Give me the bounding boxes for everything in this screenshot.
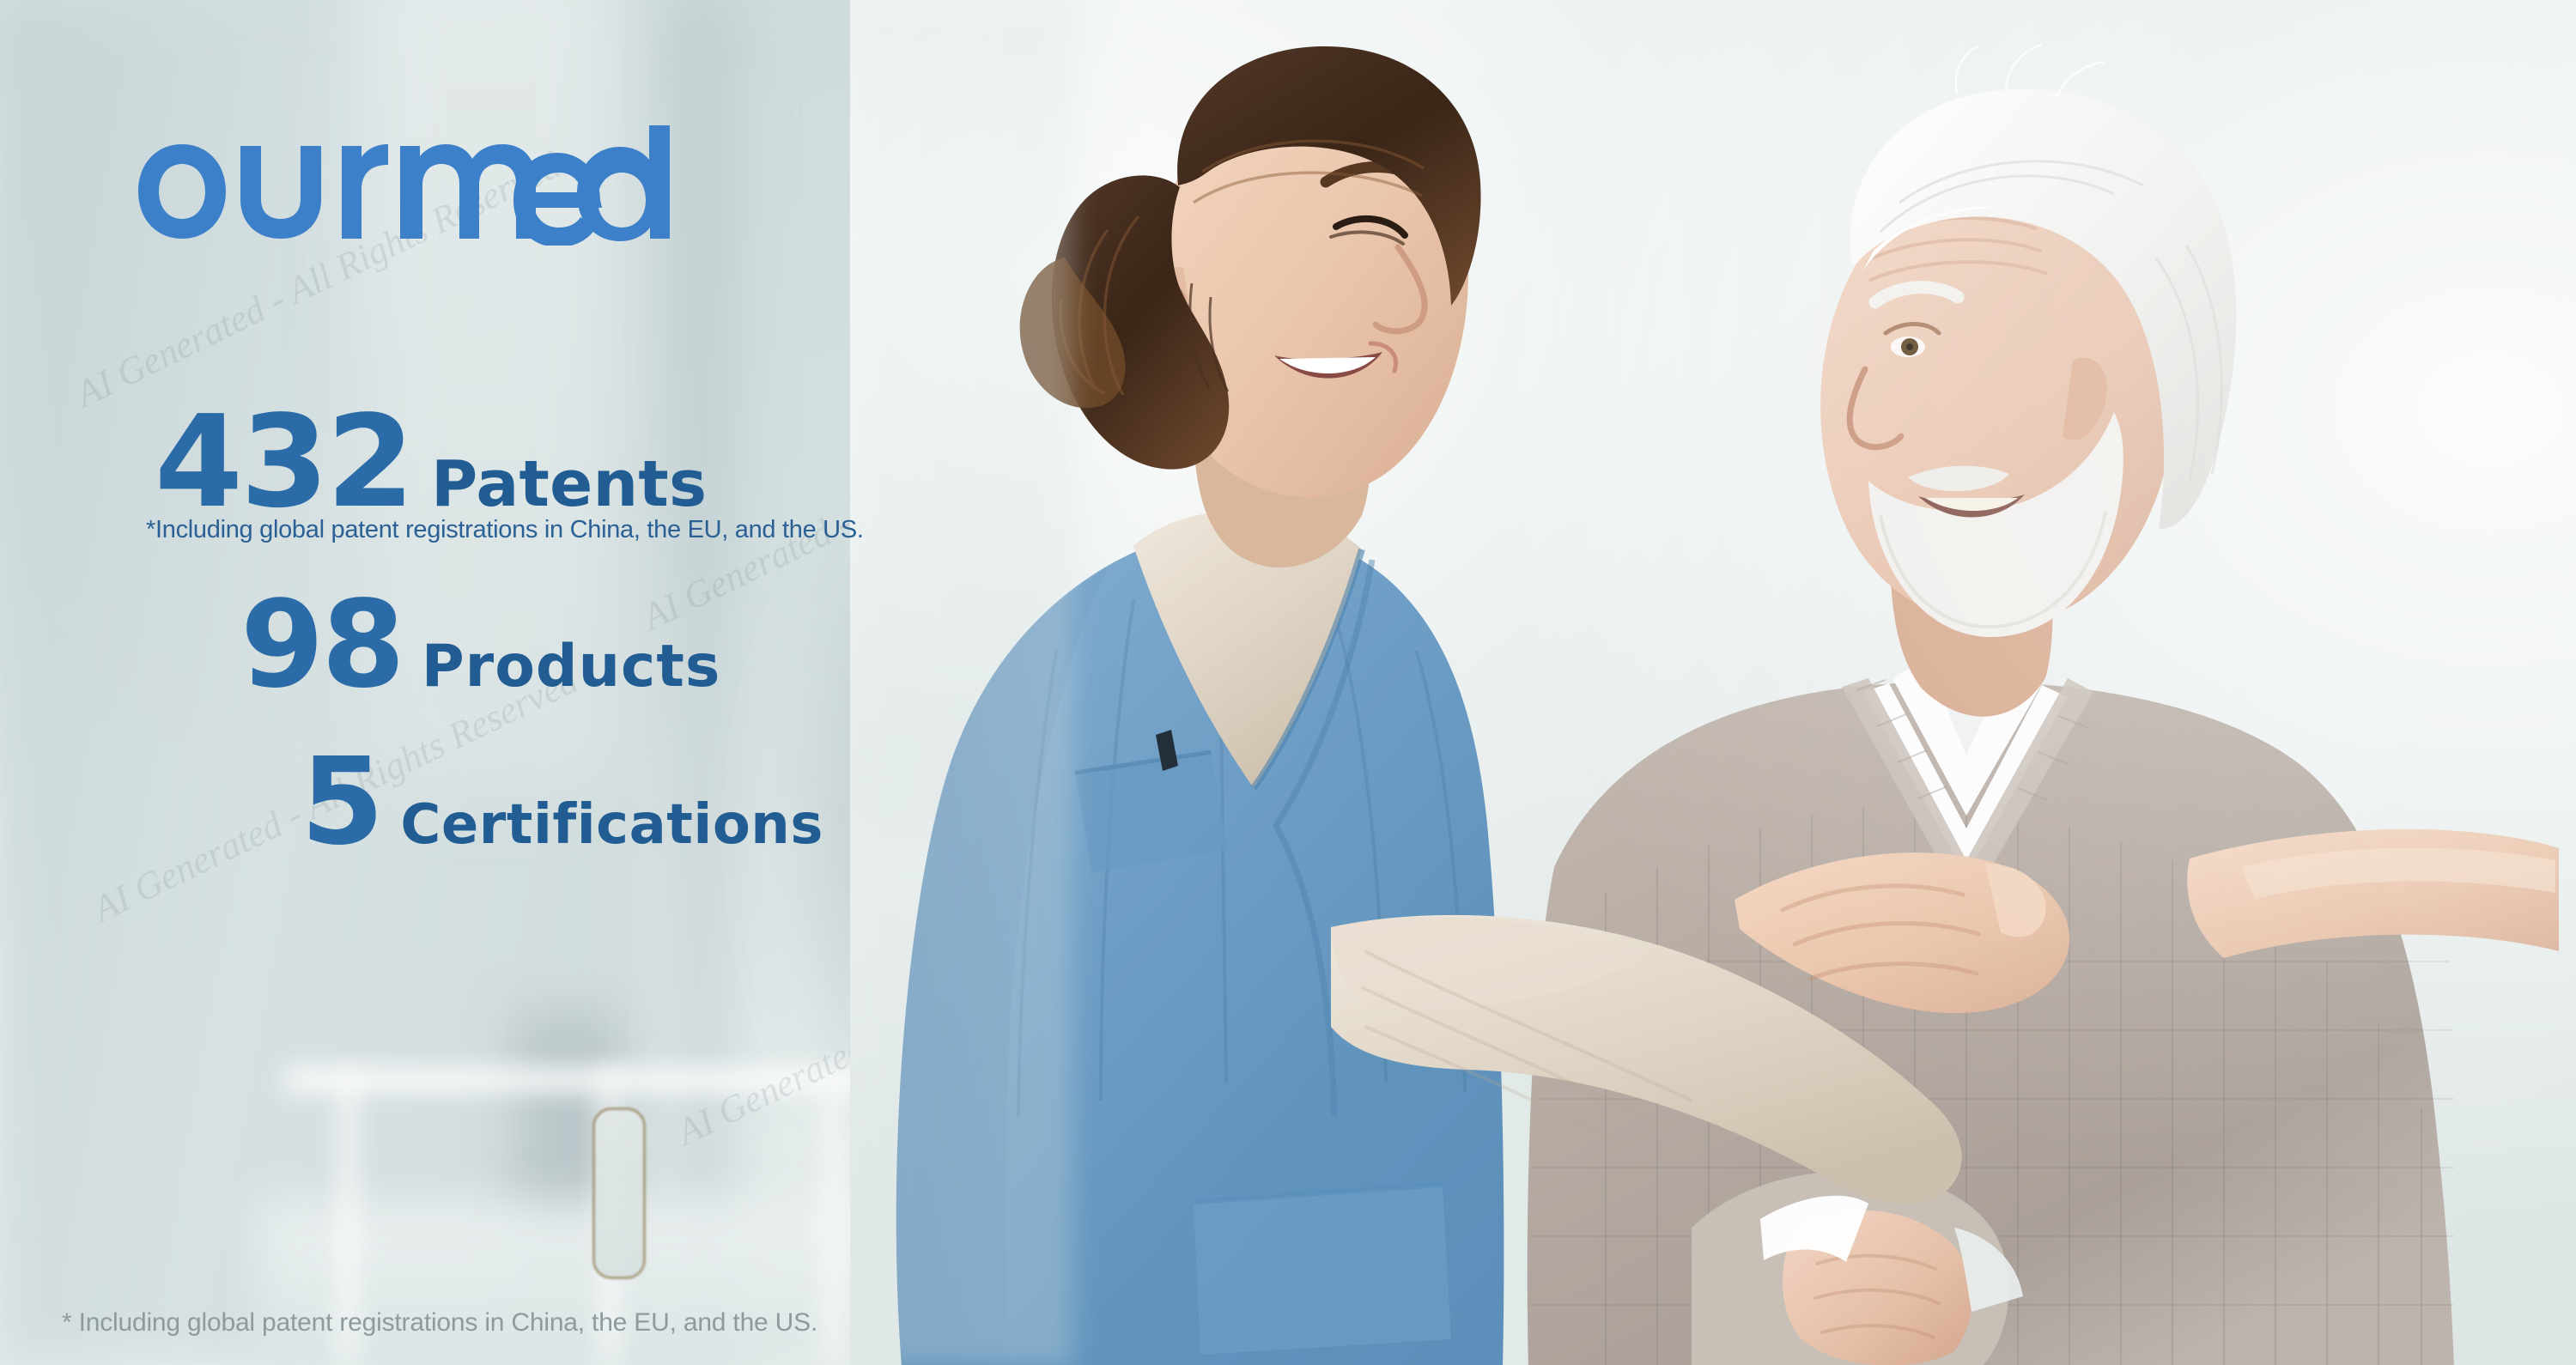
stat-label-patents: Patents (431, 447, 707, 521)
stat-number-patents: 432 (155, 403, 412, 520)
stat-label-products: Products (422, 633, 720, 701)
stat-row-certifications: 5 Certifications (0, 748, 876, 858)
footnote-text: * Including global patent registrations … (62, 1308, 817, 1338)
stat-row-patents: 432 Patents (0, 403, 876, 521)
logo-wordmark (138, 125, 670, 246)
brand-logo[interactable] (129, 125, 678, 246)
stat-number-certifications: 5 (301, 748, 381, 858)
hero-photo (850, 0, 2576, 1365)
background-clip-object (592, 1107, 646, 1279)
stat-inline-note: *Including global patent registrations i… (0, 516, 876, 544)
background-bed-rail (283, 1069, 902, 1091)
background-bed-post-3 (824, 1069, 843, 1365)
banner-canvas: AI Generated - All Rights Reserved AI Ge… (0, 0, 2576, 1365)
stats-block: 432 Patents *Including global patent reg… (0, 403, 876, 858)
stat-row-products: 98 Products (0, 591, 876, 701)
stat-label-certifications: Certifications (400, 793, 823, 857)
stat-number-products: 98 (240, 591, 403, 701)
